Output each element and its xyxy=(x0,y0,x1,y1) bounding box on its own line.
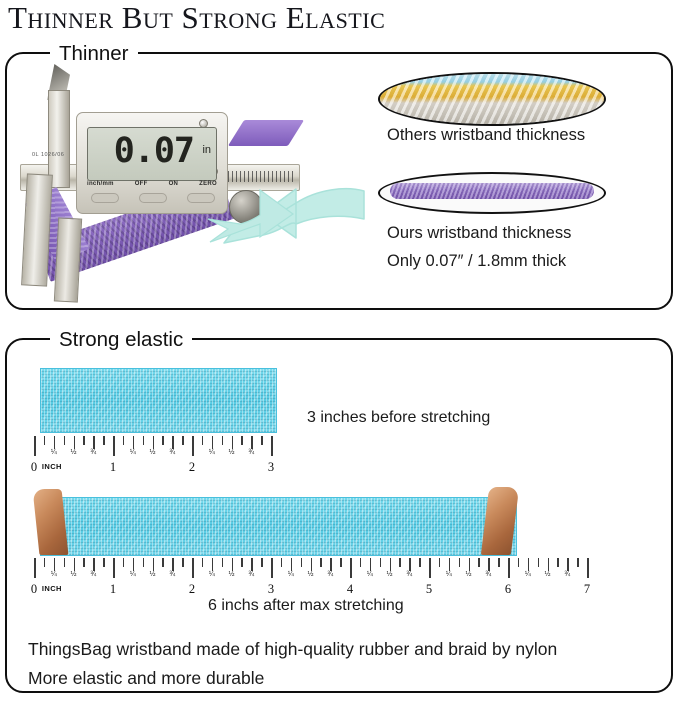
before-stretch-note: 3 inches before stretching xyxy=(307,409,490,427)
ruler-tick-minor xyxy=(172,436,174,449)
ruler-tick-minor xyxy=(162,436,164,445)
caliper-reading-unit: in xyxy=(202,144,211,156)
ruler-tick-minor xyxy=(202,558,204,567)
ruler-tick-minor xyxy=(202,436,204,445)
ruler-tick-minor xyxy=(548,558,550,571)
ruler-tick-major xyxy=(350,558,352,578)
ruler-tick-minor xyxy=(380,558,382,567)
ruler-number: 7 xyxy=(584,582,590,597)
ruler-tick-minor xyxy=(251,558,253,571)
ruler-tick-major xyxy=(429,558,431,578)
ruler-tick-minor xyxy=(251,436,253,449)
ruler-tick-minor xyxy=(232,558,234,571)
ruler-fraction-label: ½ xyxy=(466,571,472,578)
ruler-tick-major xyxy=(34,436,36,456)
ruler-tick-minor xyxy=(399,558,401,567)
ruler-tick-minor xyxy=(390,558,392,571)
ruler-three-inch: 0¼½¾1¼½¾2¼½¾3INCH xyxy=(34,436,284,482)
ours-thickness-measure: Only 0.07″ / 1.8mm thick xyxy=(387,252,566,271)
ruler-tick-minor xyxy=(44,436,46,445)
ruler-fraction-label: ½ xyxy=(71,571,77,578)
ruler-fraction-label: ¼ xyxy=(130,449,136,456)
ruler-tick-minor xyxy=(419,558,421,567)
ruler-tick-minor xyxy=(360,558,362,567)
footer-line-1: ThingsBag wristband made of high-quality… xyxy=(28,639,557,660)
button-label-inchmm: inch/mm xyxy=(87,181,114,187)
ruler-tick-minor xyxy=(153,558,155,571)
ruler-fraction-label: ½ xyxy=(229,571,235,578)
ruler-tick-minor xyxy=(469,558,471,571)
button-label-on: ON xyxy=(169,181,179,187)
ruler-number: 3 xyxy=(268,460,274,475)
ruler-fraction-label: ½ xyxy=(150,571,156,578)
ruler-fraction-label: ½ xyxy=(308,571,314,578)
button-label-off: OFF xyxy=(135,181,148,187)
after-stretch-note: 6 inchs after max stretching xyxy=(208,597,404,615)
caliper-lcd-screen: 0.07 in xyxy=(87,127,217,181)
caliper-fixed-jaw xyxy=(48,90,70,188)
ruler-tick-minor xyxy=(123,558,125,567)
ruler-fraction-label: ½ xyxy=(150,449,156,456)
ruler-fraction-label: ¼ xyxy=(51,449,57,456)
ruler-number: 5 xyxy=(426,582,432,597)
caliper-reading-value: 0.07 xyxy=(114,131,194,171)
ruler-tick-major xyxy=(113,558,115,578)
ruler-tick-minor xyxy=(261,436,263,445)
ruler-fraction-label: ¼ xyxy=(288,571,294,578)
others-braid-texture xyxy=(380,74,604,124)
ruler-fraction-label: ½ xyxy=(387,571,393,578)
ruler-fraction-label: ¾ xyxy=(485,571,491,578)
ruler-tick-major xyxy=(271,558,273,578)
ruler-tick-minor xyxy=(44,558,46,567)
ruler-fraction-label: ¾ xyxy=(248,571,254,578)
ruler-tick-minor xyxy=(93,436,95,449)
ruler-tick-minor xyxy=(74,436,76,449)
ruler-number: 0 xyxy=(31,460,37,475)
ruler-number: 6 xyxy=(505,582,511,597)
ruler-tick-minor xyxy=(182,558,184,567)
ruler-tick-minor xyxy=(261,558,263,567)
ruler-tick-major xyxy=(113,436,115,456)
ruler-tick-minor xyxy=(133,436,135,449)
ruler-fraction-label: ¼ xyxy=(209,571,215,578)
ruler-number: 3 xyxy=(268,582,274,597)
caliper-key-onoff[interactable] xyxy=(139,193,167,203)
ruler-tick-minor xyxy=(93,558,95,571)
ruler-fraction-label: ½ xyxy=(71,449,77,456)
ruler-tick-minor xyxy=(143,558,145,567)
ruler-unit-label: INCH xyxy=(42,584,62,593)
ruler-tick-minor xyxy=(241,436,243,445)
ruler-fraction-label: ¾ xyxy=(564,571,570,578)
ruler-tick-minor xyxy=(182,436,184,445)
ruler-tick-minor xyxy=(83,436,85,445)
ours-thickness-ellipse xyxy=(378,172,606,214)
ruler-tick-minor xyxy=(498,558,500,567)
ruler-tick-minor xyxy=(103,436,105,445)
page-title: Thinner But Strong Elastic xyxy=(8,0,668,38)
caliper-button-labels: inch/mm OFF ON ZERO xyxy=(87,181,217,187)
ruler-fraction-label: ¼ xyxy=(209,449,215,456)
ruler-tick-minor xyxy=(64,436,66,445)
caliper-moving-jaw-inner xyxy=(54,217,82,302)
ruler-tick-minor xyxy=(74,558,76,571)
ruler-tick-minor xyxy=(518,558,520,567)
ruler-tick-minor xyxy=(133,558,135,571)
ruler-tick-minor xyxy=(232,436,234,449)
blue-band-unstretched xyxy=(40,368,277,433)
ruler-tick-minor xyxy=(222,558,224,567)
ruler-tick-minor xyxy=(577,558,579,567)
ours-band-texture xyxy=(390,183,594,199)
blue-band-stretched xyxy=(40,497,517,556)
ruler-fraction-label: ¾ xyxy=(248,449,254,456)
ruler-fraction-label: ¼ xyxy=(525,571,531,578)
ruler-tick-major xyxy=(192,558,194,578)
caliper-photo: 0L 1026/06 0.07 in inch/mm OFF ON ZERO xyxy=(14,68,289,293)
ruler-tick-minor xyxy=(557,558,559,567)
ruler-number: 1 xyxy=(110,460,116,475)
ruler-tick-minor xyxy=(311,558,313,571)
ruler-number: 1 xyxy=(110,582,116,597)
ruler-tick-minor xyxy=(222,436,224,445)
ruler-tick-minor xyxy=(528,558,530,571)
ruler-fraction-label: ¼ xyxy=(130,571,136,578)
ruler-tick-minor xyxy=(64,558,66,567)
ruler-tick-minor xyxy=(153,436,155,449)
ruler-fraction-label: ½ xyxy=(545,571,551,578)
others-thickness-caption: Others wristband thickness xyxy=(387,126,585,145)
ruler-fraction-label: ¾ xyxy=(406,571,412,578)
ruler-number: 0 xyxy=(31,582,37,597)
ruler-tick-minor xyxy=(54,436,56,449)
ruler-tick-minor xyxy=(54,558,56,571)
ruler-fraction-label: ¾ xyxy=(90,449,96,456)
ruler-tick-major xyxy=(587,558,589,578)
ruler-fraction-label: ¾ xyxy=(169,571,175,578)
ruler-tick-minor xyxy=(370,558,372,571)
ruler-fraction-label: ¾ xyxy=(327,571,333,578)
ruler-tick-minor xyxy=(459,558,461,567)
ruler-tick-major xyxy=(34,558,36,578)
others-thickness-ellipse xyxy=(378,72,606,126)
ruler-fraction-label: ¼ xyxy=(367,571,373,578)
panel-thinner-legend: Thinner xyxy=(50,44,138,64)
pointer-arrow-icon xyxy=(200,183,365,245)
ruler-tick-minor xyxy=(538,558,540,567)
ruler-tick-minor xyxy=(439,558,441,567)
ruler-fraction-label: ¾ xyxy=(169,449,175,456)
ruler-tick-minor xyxy=(301,558,303,567)
ruler-tick-major xyxy=(508,558,510,578)
ruler-tick-minor xyxy=(212,558,214,571)
ruler-tick-minor xyxy=(143,436,145,445)
ruler-tick-minor xyxy=(409,558,411,571)
ruler-tick-minor xyxy=(212,436,214,449)
ruler-tick-minor xyxy=(291,558,293,571)
ruler-number: 2 xyxy=(189,460,195,475)
ruler-tick-minor xyxy=(83,558,85,567)
ruler-tick-minor xyxy=(567,558,569,571)
ruler-fraction-label: ¼ xyxy=(446,571,452,578)
ours-thickness-caption: Ours wristband thickness xyxy=(387,224,571,243)
ruler-tick-major xyxy=(271,436,273,456)
caliper-model-mark: 0L 1026/06 xyxy=(32,152,64,158)
ruler-number: 4 xyxy=(347,582,353,597)
ruler-tick-minor xyxy=(162,558,164,567)
ruler-tick-minor xyxy=(330,558,332,571)
ruler-tick-minor xyxy=(478,558,480,567)
caliper-key-inchmm[interactable] xyxy=(91,193,119,203)
ruler-unit-label: INCH xyxy=(42,462,62,471)
footer-line-2: More elastic and more durable xyxy=(28,668,264,689)
ruler-fraction-label: ¼ xyxy=(51,571,57,578)
ruler-number: 2 xyxy=(189,582,195,597)
ruler-tick-major xyxy=(192,436,194,456)
ruler-tick-minor xyxy=(123,436,125,445)
ruler-tick-minor xyxy=(172,558,174,571)
ruler-fraction-label: ¾ xyxy=(90,571,96,578)
caliper-keys xyxy=(91,193,215,203)
ruler-tick-minor xyxy=(241,558,243,567)
ruler-tick-minor xyxy=(340,558,342,567)
panel-strong-legend: Strong elastic xyxy=(50,330,192,350)
ruler-tick-minor xyxy=(281,558,283,567)
ruler-tick-minor xyxy=(449,558,451,571)
ruler-tick-minor xyxy=(320,558,322,567)
ruler-fraction-label: ½ xyxy=(229,449,235,456)
ruler-tick-minor xyxy=(103,558,105,567)
ruler-tick-minor xyxy=(488,558,490,571)
